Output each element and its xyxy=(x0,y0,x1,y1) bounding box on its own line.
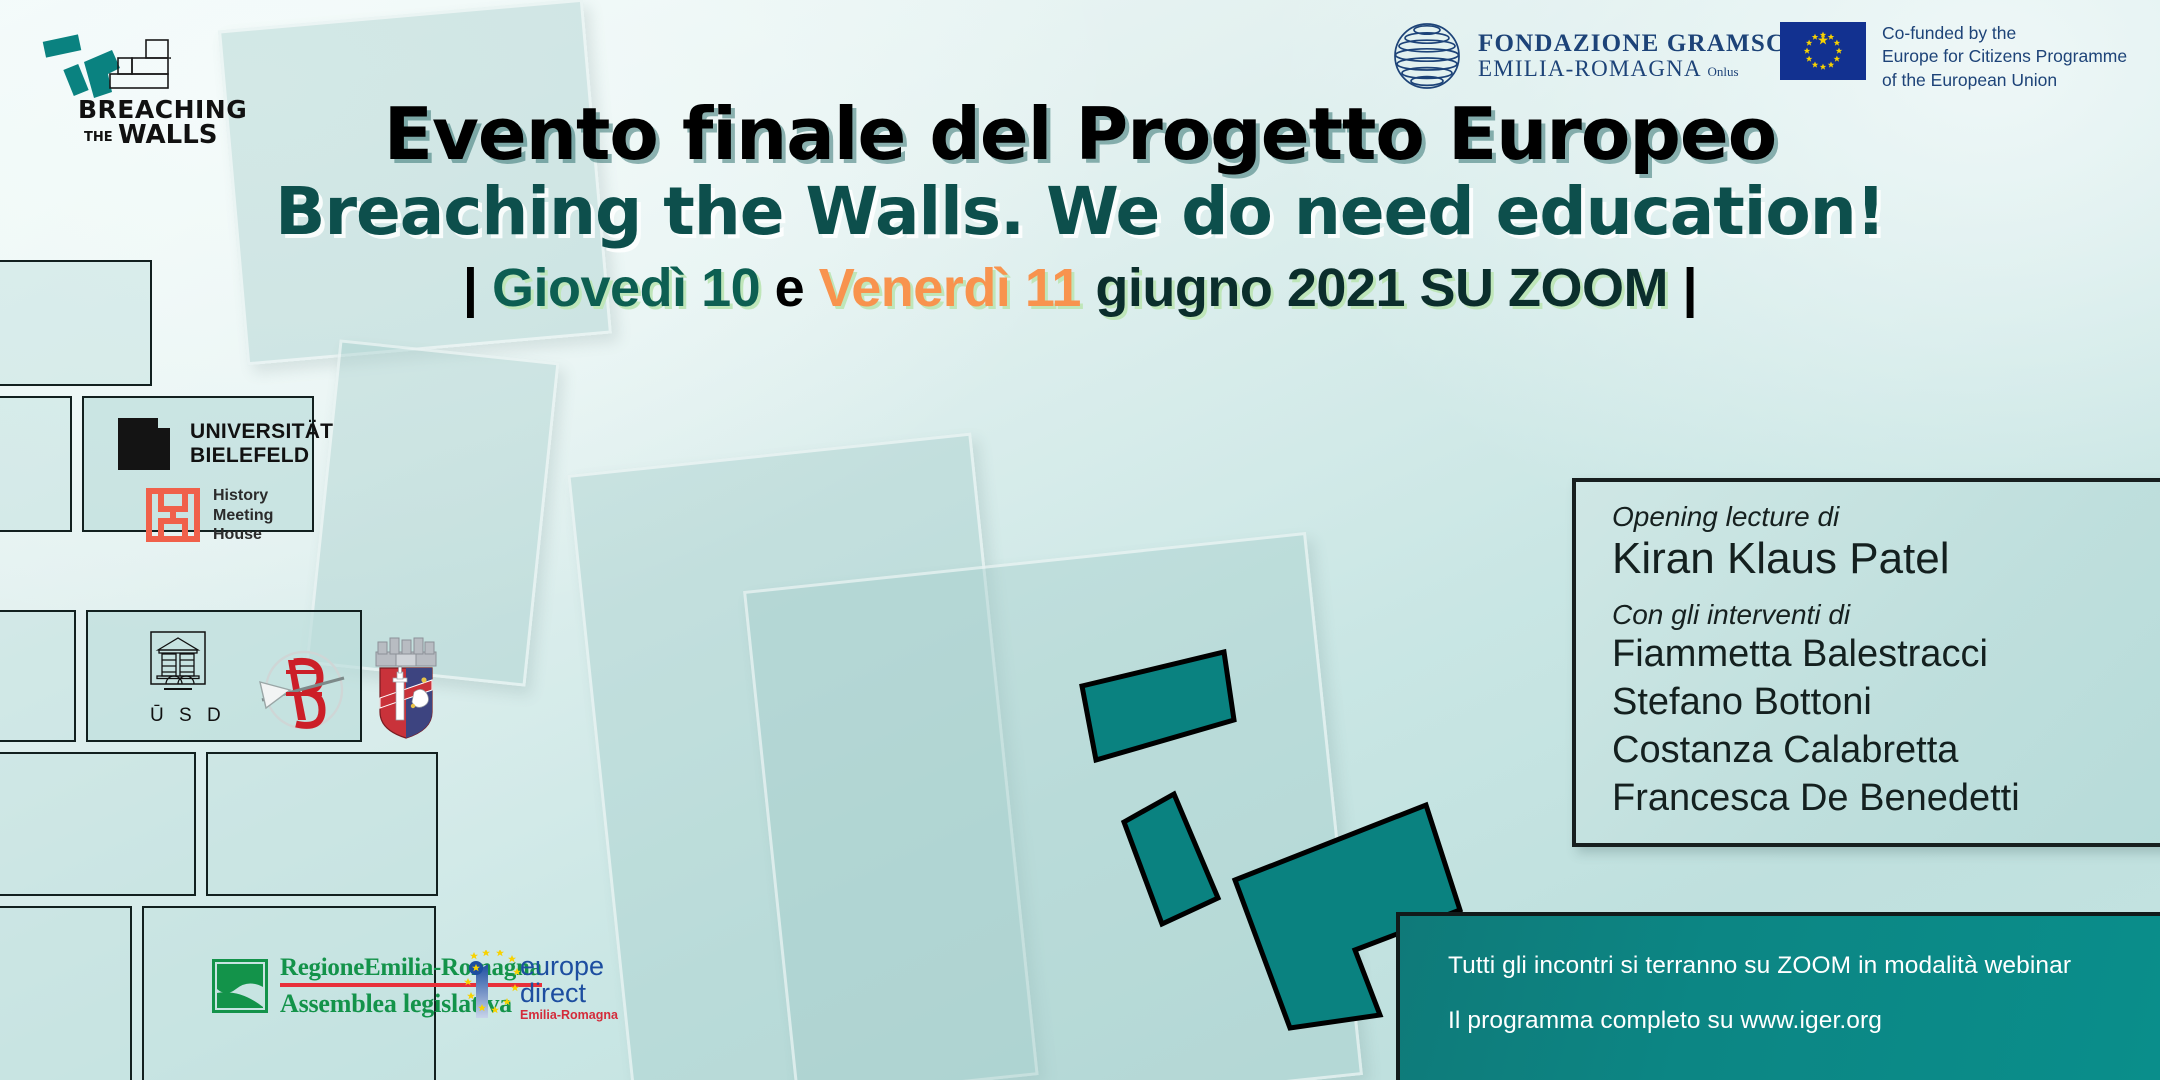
zoom-info-line-2: Il programma completo su www.iger.org xyxy=(1448,1009,2160,1034)
partner-usd-logo: Ū S D xyxy=(148,630,226,727)
regione-flag-icon xyxy=(212,959,268,1013)
tetromino-small xyxy=(1118,790,1228,930)
brick-row5-a xyxy=(0,906,132,1080)
eu-cofunding-logo: Co-funded by the Europe for Citizens Pro… xyxy=(1780,22,2127,92)
date-conjunction: e xyxy=(775,258,805,318)
bielefeld-line2: BIELEFELD xyxy=(190,444,333,468)
date-part-rest: giugno 2021 SU ZOOM xyxy=(1095,258,1668,318)
date-bar-close: | xyxy=(1683,258,1698,318)
speaker-name: Fiammetta Balestracci xyxy=(1612,631,2160,679)
hmh-line2: Meeting xyxy=(213,506,273,526)
zoom-info-line-1: Tutti gli incontri si terranno su ZOOM i… xyxy=(1448,954,2160,979)
title-date-line: | Giovedì 10 e Venerdì 11 giugno 2021 SU… xyxy=(0,259,2160,318)
hmh-line3: House xyxy=(213,525,273,545)
date-part-giovedi: Giovedì 10 xyxy=(492,258,760,318)
bielefeld-mark-icon xyxy=(118,418,176,470)
date-part-venerdi: Venerdì 11 xyxy=(819,258,1081,318)
logo-teal-bricks xyxy=(43,34,120,98)
history-meeting-house-icon xyxy=(146,488,200,542)
opening-lecture-label: Opening lecture di xyxy=(1612,500,2160,533)
europe-direct-mark-icon xyxy=(462,950,520,1024)
speaker-name: Costanza Calabretta xyxy=(1612,727,2160,775)
hmh-line1: History xyxy=(213,486,273,506)
eu-flag-icon xyxy=(1780,22,1866,80)
speaker-name: Francesca De Benedetti xyxy=(1612,775,2160,823)
europe-direct-line1: europe xyxy=(520,953,618,980)
brick-row4-a xyxy=(0,752,196,896)
usd-label: Ū S D xyxy=(150,705,226,727)
poster-canvas: BREACHING THE WALLS WE DO NEED EDUCATION… xyxy=(0,0,2160,1080)
title-block: Evento finale del Progetto Europeo Breac… xyxy=(0,96,2160,318)
city-crest-icon xyxy=(372,636,440,740)
gramsci-line1: FONDAZIONE GRAMSCI xyxy=(1478,31,1796,57)
zoom-info-panel: Tutti gli incontri si terranno su ZOOM i… xyxy=(1396,912,2160,1080)
brick-row3-a xyxy=(0,610,76,742)
logo-wall-outline xyxy=(110,40,170,88)
title-line-1: Evento finale del Progetto Europeo xyxy=(0,96,2160,172)
brick-row2-a xyxy=(0,396,72,532)
gramsci-line2: EMILIA-ROMAGNA Onlus xyxy=(1478,57,1796,81)
usd-building-icon xyxy=(148,630,208,702)
partner-europe-direct-logo: europe direct Emilia-Romagna xyxy=(462,950,618,1024)
fondazione-gramsci-logo: FONDAZIONE GRAMSCI EMILIA-ROMAGNA Onlus xyxy=(1390,18,1796,94)
brick-row4-b xyxy=(206,752,438,896)
title-line-2: Breaching the Walls. We do need educatio… xyxy=(0,176,2160,249)
eu-line2: Europe for Citizens Programme xyxy=(1882,45,2127,68)
gramsci-globe-icon xyxy=(1390,19,1464,93)
europe-direct-line2: direct xyxy=(520,980,618,1007)
tetromino-bar xyxy=(1078,648,1238,768)
gramsci-onlus: Onlus xyxy=(1707,64,1738,79)
partner-crest-logo xyxy=(372,636,440,745)
speaker-name: Stefano Bottoni xyxy=(1612,679,2160,727)
date-bar-open: | xyxy=(463,258,478,318)
red-b-emblem-icon xyxy=(248,638,352,742)
eu-line1: Co-funded by the xyxy=(1882,22,2127,45)
partner-bielefeld-group: UNIVERSITÄT BIELEFELD History Meeting Ho… xyxy=(118,418,333,545)
europe-direct-line3: Emilia-Romagna xyxy=(520,1009,618,1022)
eu-line3: of the European Union xyxy=(1882,69,2127,92)
partner-red-b-logo xyxy=(248,638,352,747)
interventions-label: Con gli interventi di xyxy=(1612,598,2160,631)
opening-lecture-name: Kiran Klaus Patel xyxy=(1612,533,2160,584)
speakers-panel: Opening lecture di Kiran Klaus Patel Con… xyxy=(1572,478,2160,847)
bielefeld-line1: UNIVERSITÄT xyxy=(190,420,333,444)
